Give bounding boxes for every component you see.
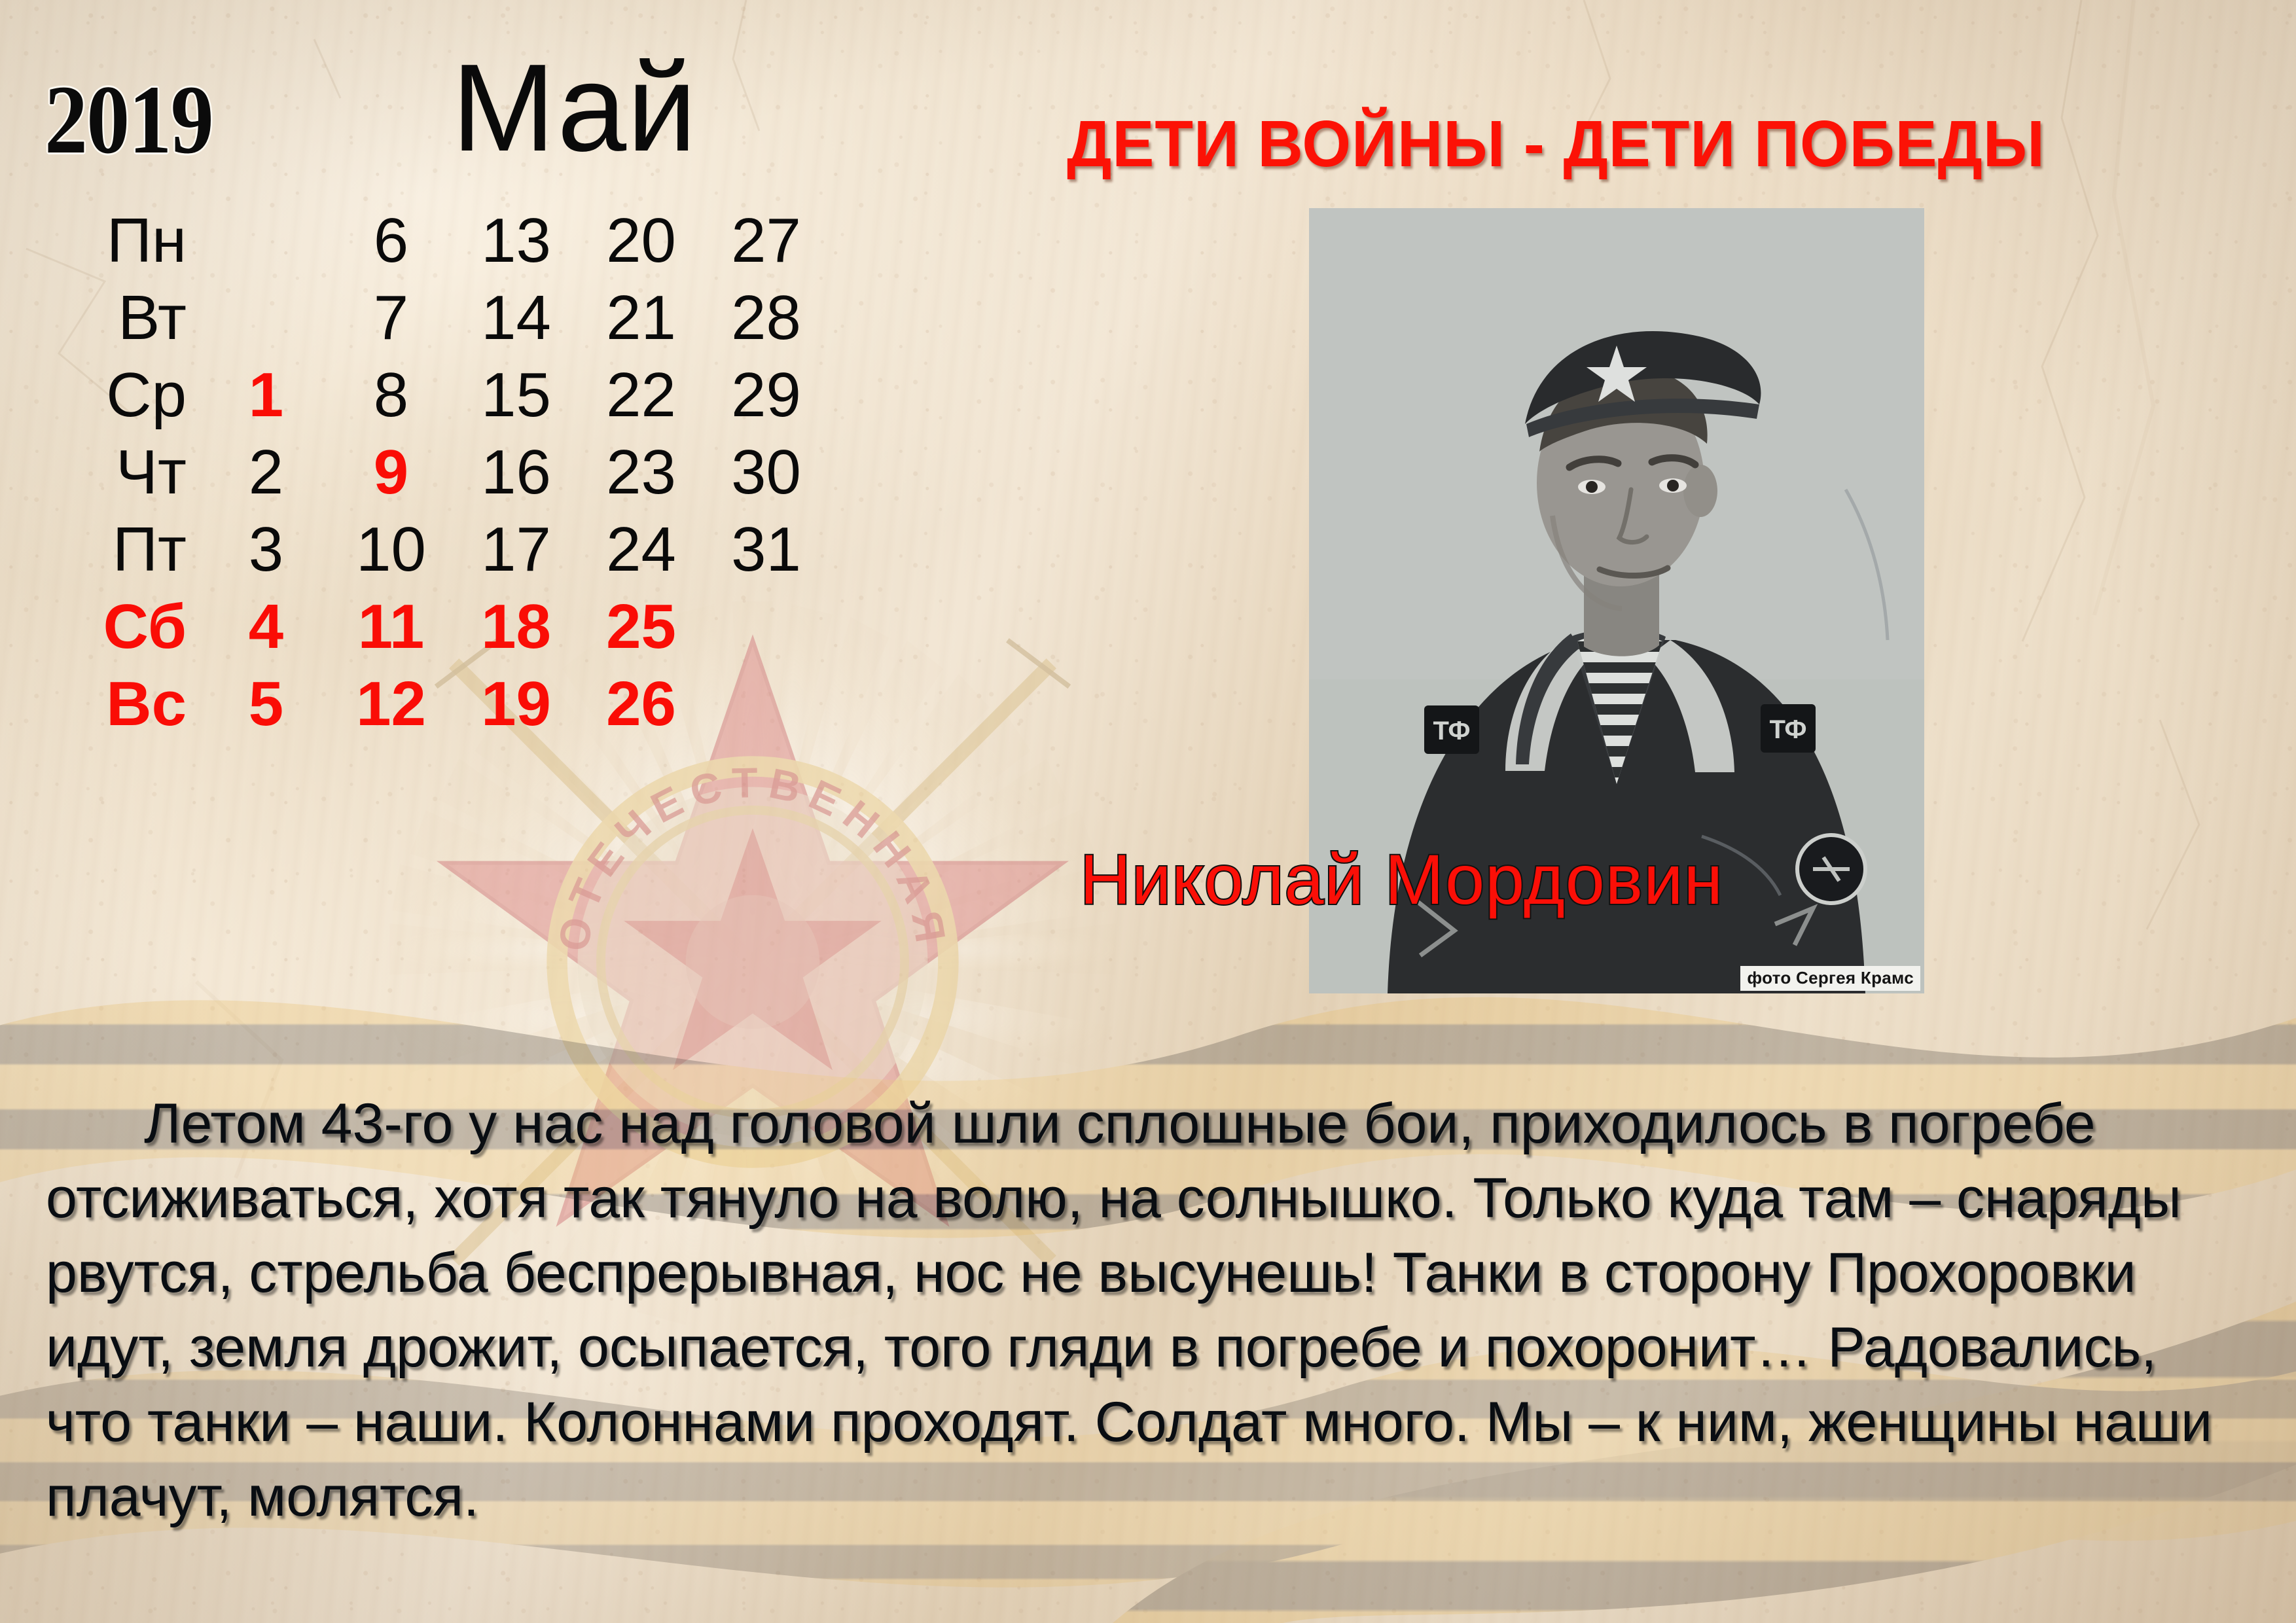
calendar-day-28[interactable]: 28 <box>704 287 829 349</box>
calendar-day-13[interactable]: 13 <box>454 209 579 272</box>
calendar-day-24[interactable]: 24 <box>579 518 704 581</box>
calendar-row-вс: Вс5121926 <box>63 673 999 750</box>
page-title-month: Май <box>452 46 697 170</box>
calendar-day-18[interactable]: 18 <box>454 596 579 658</box>
calendar-day-11[interactable]: 11 <box>329 596 454 658</box>
calendar-day-7[interactable]: 7 <box>329 287 454 349</box>
calendar-day-29[interactable]: 29 <box>704 364 829 427</box>
weekday-label: Вс <box>63 673 204 736</box>
calendar-row-пн: Пн6132027 <box>63 209 999 287</box>
calendar-day-31[interactable]: 31 <box>704 518 829 581</box>
calendar-day-16[interactable]: 16 <box>454 441 579 504</box>
weekday-label: Ср <box>63 364 204 427</box>
calendar-day-5[interactable]: 5 <box>204 673 329 736</box>
page-title-year: 2019 <box>45 71 213 169</box>
calendar-day-10[interactable]: 10 <box>329 518 454 581</box>
calendar-day-23[interactable]: 23 <box>579 441 704 504</box>
calendar-day-1[interactable]: 1 <box>204 364 329 427</box>
photo-credit: фото Сергея Крамс <box>1740 966 1920 991</box>
calendar-day-15[interactable]: 15 <box>454 364 579 427</box>
calendar-day-21[interactable]: 21 <box>579 287 704 349</box>
calendar-day-4[interactable]: 4 <box>204 596 329 658</box>
weekday-label: Пн <box>63 209 204 272</box>
calendar-day-19[interactable]: 19 <box>454 673 579 736</box>
memoir-text-block: Летом 43-го у нас над головой шли сплошн… <box>46 1086 2258 1534</box>
memoir-paragraph: Летом 43-го у нас над головой шли сплошн… <box>46 1086 2258 1534</box>
calendar-day-12[interactable]: 12 <box>329 673 454 736</box>
calendar-day-9[interactable]: 9 <box>329 441 454 504</box>
weekday-label: Чт <box>63 441 204 504</box>
calendar-row-чт: Чт29162330 <box>63 441 999 518</box>
banner-title: ДЕТИ ВОЙНЫ - ДЕТИ ПОБЕДЫ <box>1067 111 2045 177</box>
calendar-row-пт: Пт310172431 <box>63 518 999 596</box>
calendar-day-20[interactable]: 20 <box>579 209 704 272</box>
calendar-day-30[interactable]: 30 <box>704 441 829 504</box>
weekday-label: Пт <box>63 518 204 581</box>
calendar-page: ОТЕЧЕСТВЕННАЯ <box>0 0 2296 1623</box>
calendar-grid: Пн6132027Вт7142128Ср18152229Чт29162330Пт… <box>63 209 999 750</box>
calendar-day-6[interactable]: 6 <box>329 209 454 272</box>
portrait-name: Николай Мордовин <box>1080 844 1723 915</box>
calendar-day-22[interactable]: 22 <box>579 364 704 427</box>
calendar-day-2[interactable]: 2 <box>204 441 329 504</box>
calendar-day-17[interactable]: 17 <box>454 518 579 581</box>
calendar-day-8[interactable]: 8 <box>329 364 454 427</box>
calendar-row-сб: Сб4111825 <box>63 596 999 673</box>
calendar-day-3[interactable]: 3 <box>204 518 329 581</box>
weekday-label: Сб <box>63 596 204 658</box>
calendar-day-26[interactable]: 26 <box>579 673 704 736</box>
calendar-row-ср: Ср18152229 <box>63 364 999 441</box>
calendar-day-14[interactable]: 14 <box>454 287 579 349</box>
calendar-day-27[interactable]: 27 <box>704 209 829 272</box>
weekday-label: Вт <box>63 287 204 349</box>
calendar-day-25[interactable]: 25 <box>579 596 704 658</box>
calendar-row-вт: Вт7142128 <box>63 287 999 364</box>
